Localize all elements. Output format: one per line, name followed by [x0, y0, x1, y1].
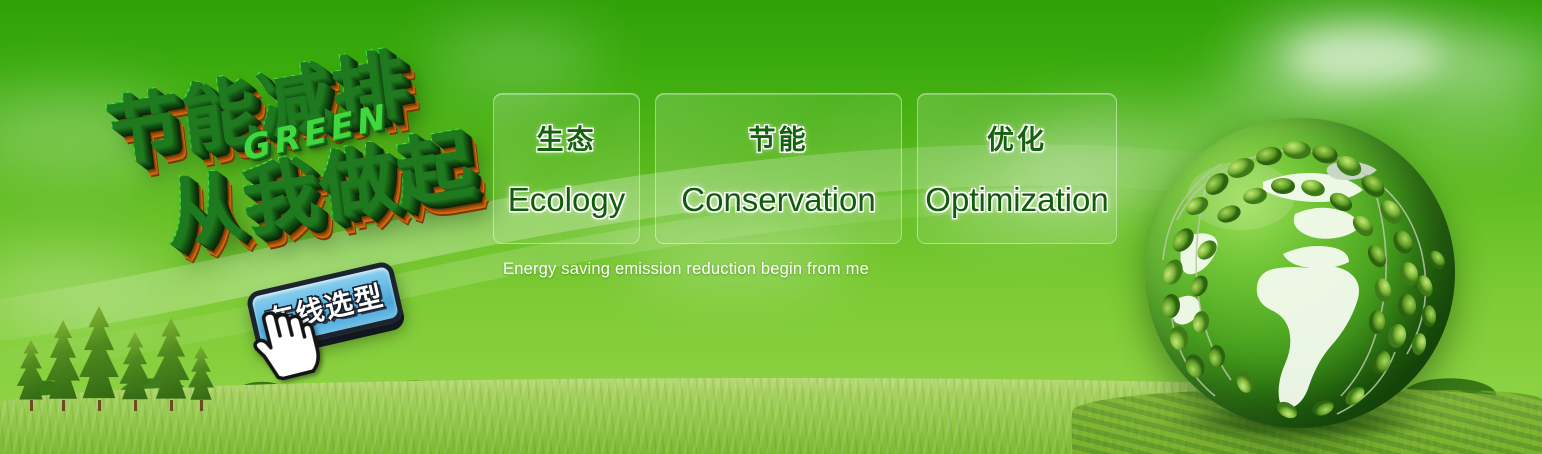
eco-hero-banner: 节能减排 GREEN 从我做起 在线选型 生态 Ecology 节能 Conse…	[0, 0, 1542, 454]
globe-sphere	[1145, 118, 1455, 428]
leafy-globe-icon	[1145, 118, 1455, 428]
headline-3d-logo: 节能减排 GREEN 从我做起	[83, 15, 500, 291]
cloud-shape	[1245, 10, 1475, 96]
feature-card-en-label: Optimization	[925, 181, 1108, 219]
feature-card-cn-label: 节能	[749, 118, 809, 157]
feature-card-conservation[interactable]: 节能 Conservation	[655, 93, 902, 244]
feature-card-optimization[interactable]: 优化 Optimization	[917, 93, 1117, 244]
pine-trees-group	[8, 302, 218, 402]
cloud-shape	[1290, 28, 1440, 86]
feature-card-en-label: Ecology	[508, 181, 625, 219]
feature-card-cn-label: 生态	[537, 118, 597, 157]
feature-card-ecology[interactable]: 生态 Ecology	[493, 93, 640, 244]
pine-tree-icon	[182, 346, 220, 402]
feature-card-cn-label: 优化	[987, 118, 1047, 157]
feature-card-en-label: Conservation	[681, 181, 875, 219]
cloud-shape	[1430, 34, 1542, 92]
cta-area: 在线选型	[246, 272, 432, 380]
banner-tagline: Energy saving emission reduction begin f…	[503, 260, 869, 279]
feature-cards: 生态 Ecology 节能 Conservation 优化 Optimizati…	[493, 93, 1117, 244]
